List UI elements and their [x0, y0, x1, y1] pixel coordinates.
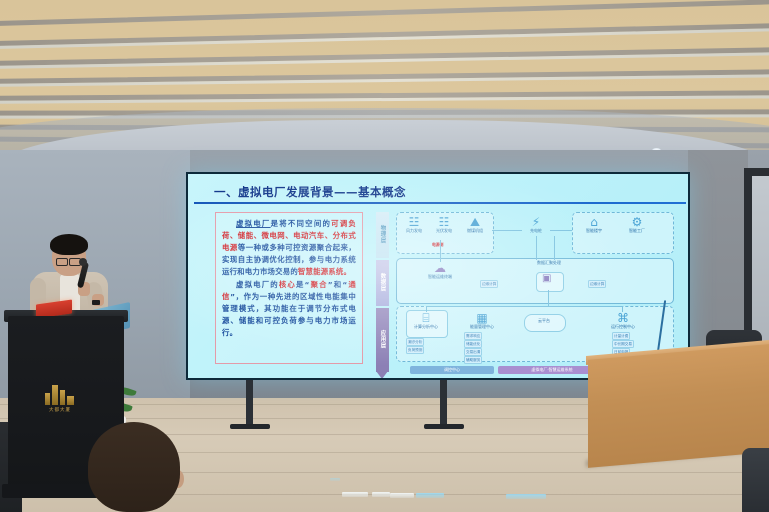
- screen-floor-reflection: [390, 493, 414, 498]
- layer-label-application: 应用层: [376, 308, 389, 372]
- slide-paragraph-2: 虚拟电厂的核心是“聚合”和“通信”，作为一种先进的区域性电能集中管理模式，其功能…: [222, 279, 356, 339]
- text-run-normal: ”，作为一种先进的区域性电能集中管理模式，其功能在于调节分布式电源、储能和可控负…: [222, 292, 356, 337]
- screenshot-root: 一、虚拟电厂发展背景——基本概念 虚拟电厂是将不同空间的可调负荷、储能、微电网、…: [0, 0, 769, 512]
- slide-textbox: 虚拟电厂是将不同空间的可调负荷、储能、微电网、电动汽车、分布式电源等一种或多种可…: [215, 212, 363, 364]
- node-wind: ☳ 风力发电: [400, 216, 428, 233]
- presenter-glasses: [56, 258, 68, 266]
- thermal-plant-icon: ⛰: [461, 216, 489, 228]
- slide-title-underline: [194, 202, 686, 204]
- node-solar-label: 光伏发电: [430, 228, 458, 233]
- app-chip: 中长期交易: [612, 340, 634, 348]
- node-thermal: ⛰ 燃煤机组: [461, 216, 489, 233]
- app-chip: 计量计费: [612, 332, 630, 340]
- node-data-aggregation-label: 数据汇聚处理: [526, 260, 572, 265]
- presentation-screen[interactable]: 一、虚拟电厂发展背景——基本概念 虚拟电厂是将不同空间的可调负荷、储能、微电网、…: [186, 172, 690, 380]
- wind-turbine-icon: ☳: [400, 216, 428, 228]
- node-cloud-platform: 云平台: [524, 318, 564, 323]
- node-ev-label: 充电桩: [522, 228, 550, 233]
- layer-label-data: 数据层: [376, 260, 389, 306]
- screen-floor-reflection: [506, 494, 546, 499]
- solar-panel-icon: ☷: [430, 216, 458, 228]
- screen-stand-foot: [424, 424, 464, 429]
- screen-stand-leg: [440, 380, 447, 426]
- screen-stand-leg: [246, 380, 253, 426]
- office-chair: [742, 448, 769, 512]
- text-run-highlight: 核心: [279, 280, 296, 289]
- audience-member: [88, 422, 180, 512]
- layer-label-physical: 物理层: [376, 212, 389, 258]
- control-center-icon: ⌘: [600, 312, 646, 324]
- node-building: ⌂ 智能楼宇: [580, 216, 608, 233]
- podium-logo-text: 大都大厦: [49, 407, 71, 413]
- node-compute-center: ⌸ 计算分析中心: [406, 312, 446, 329]
- app-chip: 负荷预测: [406, 346, 424, 354]
- ev-charging-icon: ⚡: [522, 216, 550, 228]
- microphone-head: [79, 258, 87, 266]
- node-solar: ☷ 光伏发电: [430, 216, 458, 233]
- node-ops-terminal-label: 智能运维终端: [420, 274, 460, 279]
- slide-heading: 一、虚拟电厂发展背景——基本概念: [214, 184, 406, 200]
- text-run-normal: 是“: [296, 280, 310, 289]
- node-control-center: ⌘ 运行控制中心: [600, 312, 646, 329]
- compute-center-icon: ⌸: [406, 312, 446, 324]
- node-thermal-label: 燃煤机组: [461, 228, 489, 233]
- app-chip: 辅助服务: [464, 356, 482, 364]
- app-chip: 储能优化: [464, 340, 482, 348]
- node-cloud-platform-label: 云平台: [524, 318, 564, 323]
- energy-manage-icon: ▦: [460, 312, 504, 324]
- node-wind-label: 风力发电: [400, 228, 428, 233]
- presenter-hair: [50, 234, 88, 255]
- building-logo-icon: [45, 383, 75, 405]
- smart-factory-icon: ⚙: [622, 216, 652, 228]
- text-run-underline: 虚拟电厂: [236, 219, 271, 228]
- presentation-clicker: [92, 300, 100, 305]
- node-energy-mgmt: ▦ 能量管理中心: [460, 312, 504, 329]
- node-factory: ⚙ 智能工厂: [622, 216, 652, 233]
- slide-paragraph-1: 虚拟电厂是将不同空间的可调负荷、储能、微电网、电动汽车、分布式电源等一种或多种可…: [222, 218, 356, 278]
- node-ops-terminal: ☁ 智能运维终端: [420, 262, 460, 279]
- node-factory-label: 智能工厂: [622, 228, 652, 233]
- gateway-icon: ▣: [542, 274, 551, 284]
- node-data-aggregation: 数据汇聚处理: [526, 260, 572, 265]
- screen-floor-reflection: [330, 478, 340, 481]
- text-run-normal: 是将不同空间的: [271, 219, 332, 228]
- text-run-highlight: 智慧能源系统。: [298, 267, 351, 276]
- screen-floor-reflection: [342, 492, 368, 497]
- app-chip: 需求响应: [464, 332, 482, 340]
- ceiling-wood-slats: [0, 0, 769, 172]
- screen-floor-reflection: [416, 493, 444, 498]
- app-chip: 交易出清: [464, 348, 482, 356]
- text-run-normal: ”和“: [328, 280, 348, 289]
- screen-floor-reflection: [372, 492, 390, 497]
- podium-logo: 大都大厦: [34, 378, 86, 418]
- text-run-normal: 虚拟电厂的: [236, 280, 279, 289]
- cloud-platform-icon: ☁: [420, 262, 460, 274]
- source-side-label: 电源侧: [432, 242, 443, 248]
- bottom-bar-dispatch: 调控中心: [410, 366, 494, 374]
- node-building-label: 智能楼宇: [580, 228, 608, 233]
- node-energy-mgmt-label: 能量管理中心: [460, 324, 504, 329]
- node-ev: ⚡ 充电桩: [522, 216, 550, 233]
- node-control-center-label: 运行控制中心: [600, 324, 646, 329]
- conference-room: 一、虚拟电厂发展背景——基本概念 虚拟电厂是将不同空间的可调负荷、储能、微电网、…: [0, 0, 769, 512]
- node-compute-center-label: 计算分析中心: [406, 324, 446, 329]
- edge-compute-label-right: 边缘计算: [588, 280, 606, 288]
- edge-compute-label-left: 边缘计算: [480, 280, 498, 288]
- conference-table: [588, 344, 769, 468]
- text-run-highlight: 聚合: [310, 280, 328, 289]
- slide-surface: 一、虚拟电厂发展背景——基本概念 虚拟电厂是将不同空间的可调负荷、储能、微电网、…: [188, 174, 688, 378]
- screen-stand-foot: [230, 424, 270, 429]
- smart-building-icon: ⌂: [580, 216, 608, 228]
- app-chip: 潮汐分析: [406, 338, 424, 346]
